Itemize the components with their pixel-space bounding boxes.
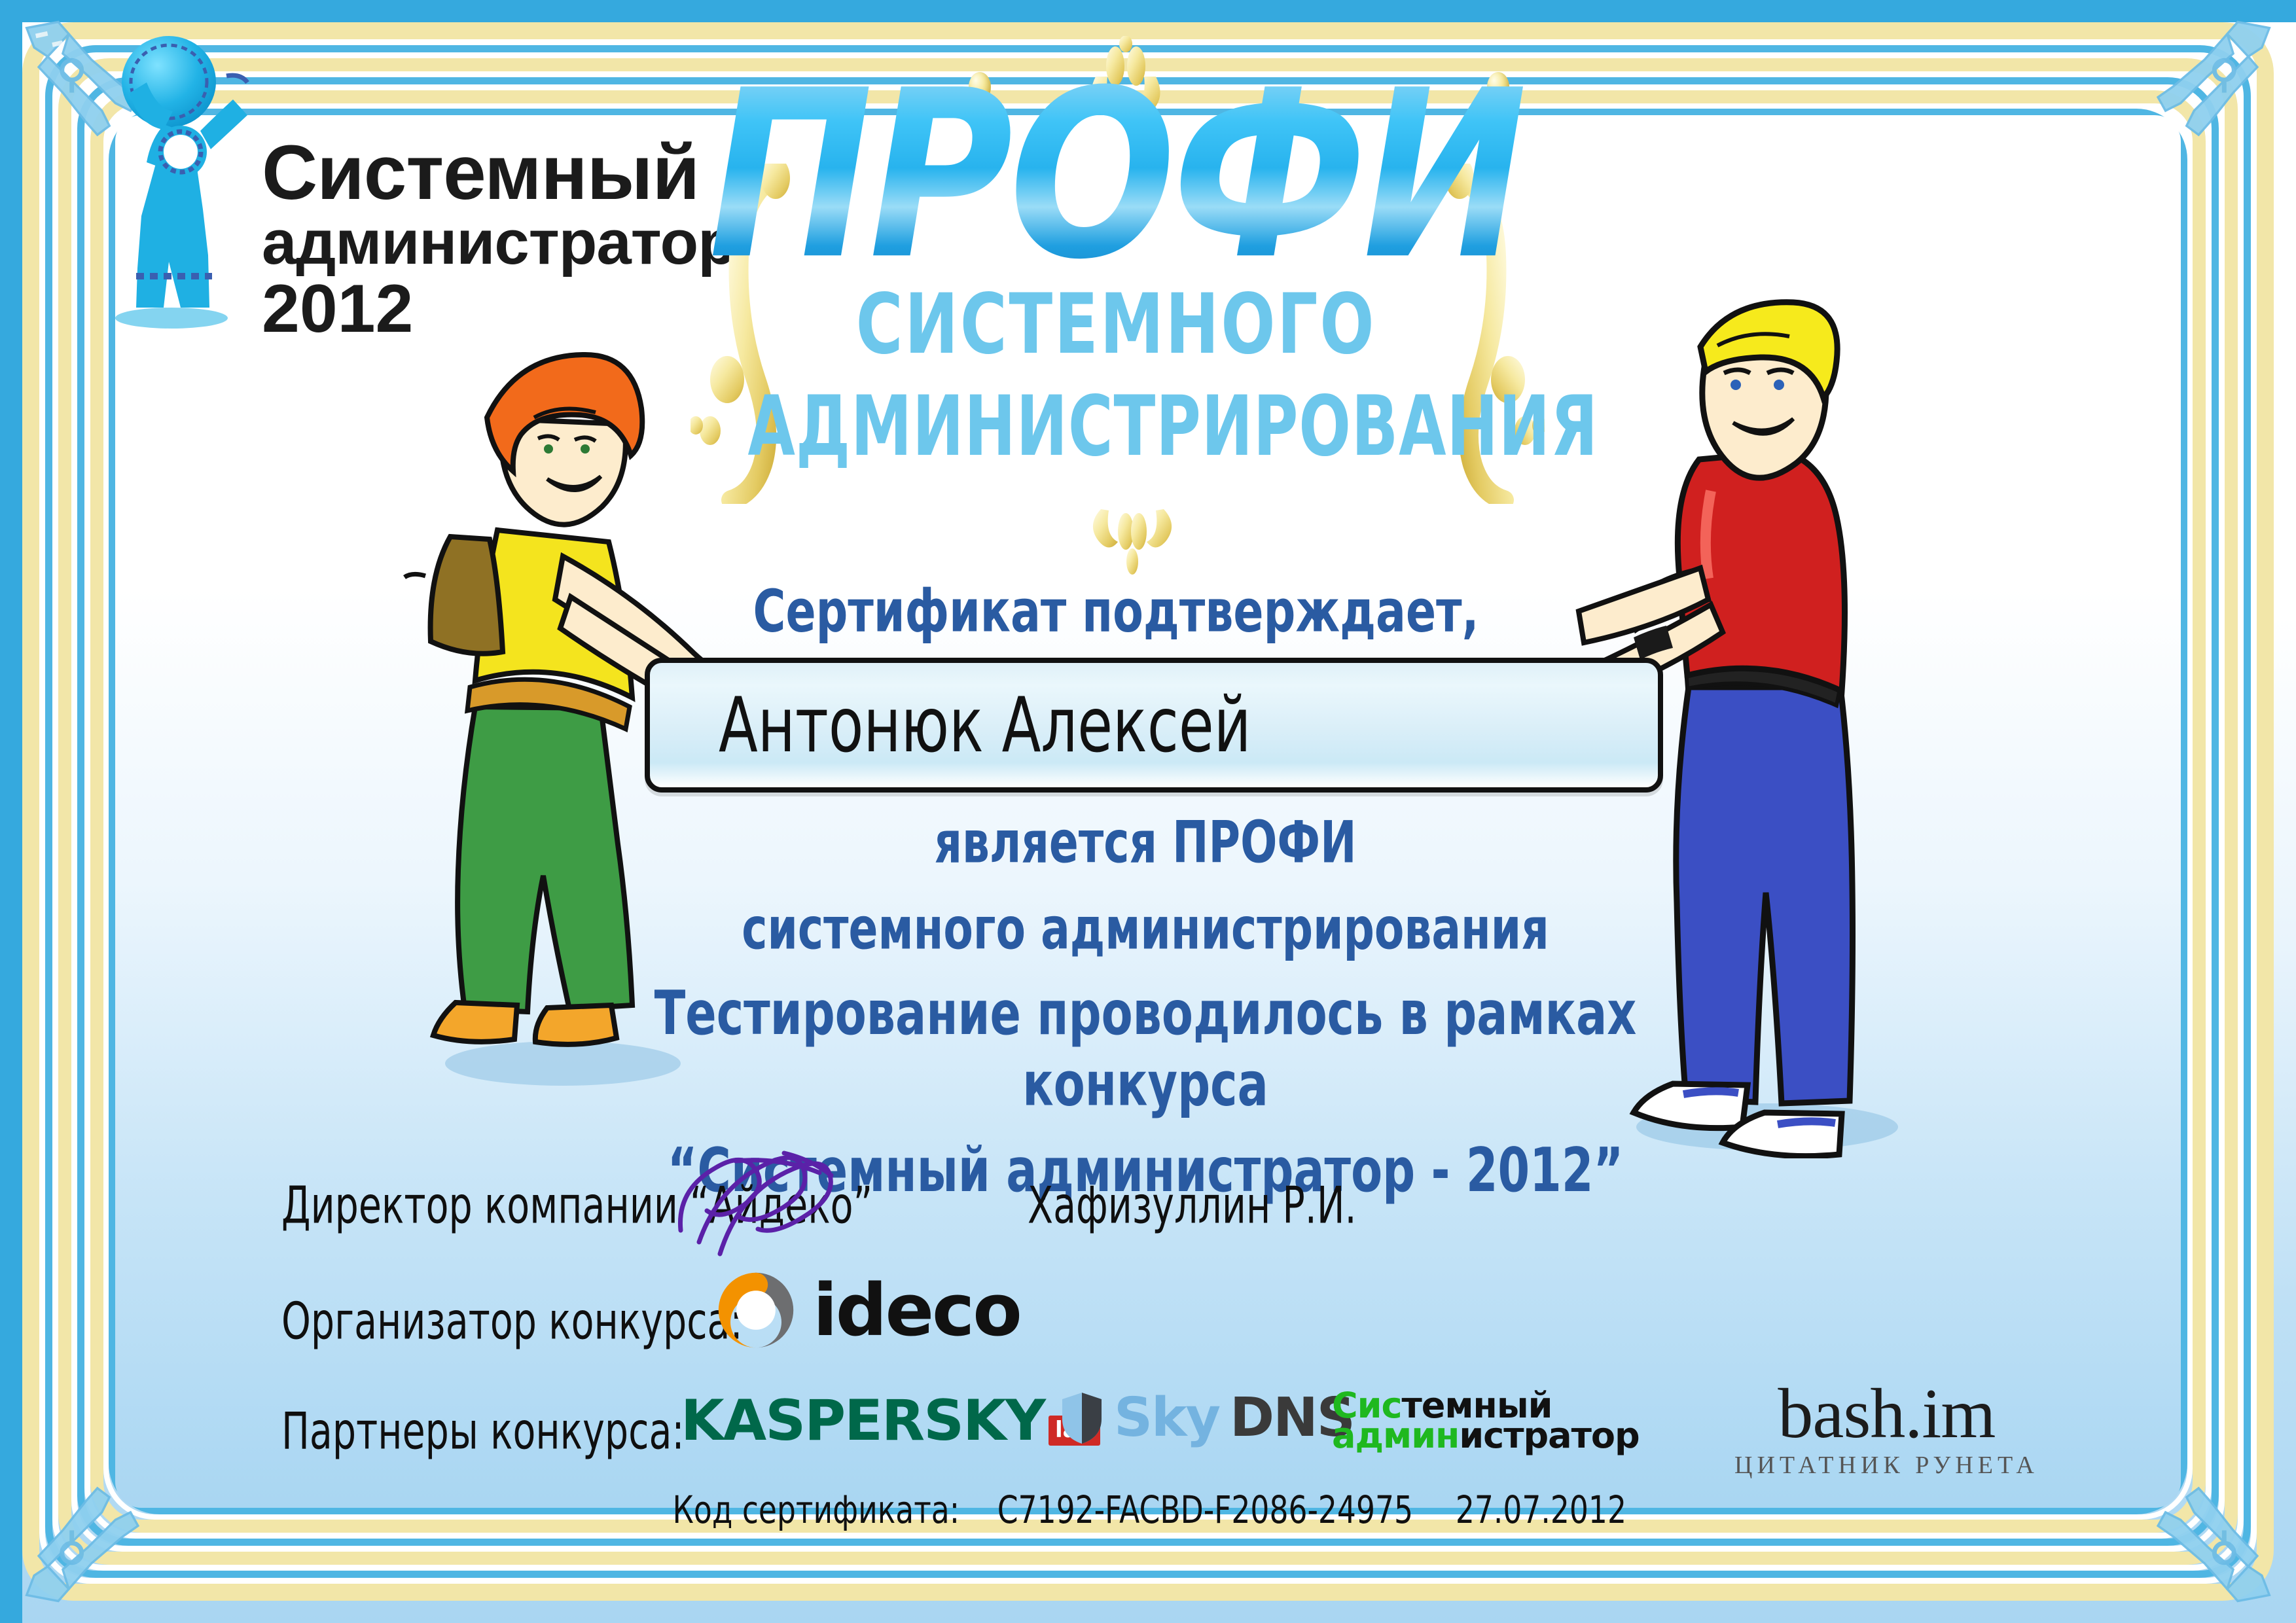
sysadmin-green-2: админ [1332, 1415, 1459, 1456]
pliers-ornament-icon [13, 1458, 164, 1609]
certificate-heading: ПРОФИ СИСТЕМНОГО АДМИНИСТРИРОВАНИЯ [707, 79, 1525, 466]
certificate-code-line: Код сертификата: C7192-FACBD-F2086-24975… [0, 1492, 2296, 1529]
skydns-shield-icon [1060, 1391, 1103, 1445]
heading-title: ПРОФИ [707, 79, 1525, 273]
bashim-logo-icon: bash.im ЦИТАТНИК РУНЕТА [1734, 1379, 2039, 1480]
ideco-ring-icon [713, 1268, 798, 1353]
body-line-2: системного администрирования [634, 895, 1657, 962]
sysadmin-logo-icon: Системный администратор [1332, 1391, 1640, 1452]
code-value: C7192-FACBD-F2086-24975 [997, 1488, 1413, 1532]
logo-line-3: 2012 [262, 275, 720, 343]
ideco-logo: ideco [713, 1268, 1020, 1353]
certificate-page: Системный администратор 2012 [0, 0, 2296, 1623]
organizer-row: Организатор конкурса: ideco [281, 1279, 1721, 1378]
skydns-sky-text: Sky [1114, 1387, 1219, 1449]
heading-subtitle-line-1: СИСТЕМНОГО [732, 276, 1501, 373]
organizer-label: Организатор конкурса: [281, 1291, 743, 1351]
certificate-body-text: является ПРОФИ системного администрирова… [589, 795, 1702, 1199]
heading-subtitle-line-2: АДМИНИСТРИРОВАНИЯ [748, 378, 1484, 475]
handwritten-signature-icon [668, 1144, 857, 1262]
partners-row: Партнеры конкурса: KASPERSKY lab Sky DNS… [281, 1391, 2114, 1489]
sysadmin-black-2: истратор [1459, 1415, 1639, 1456]
recipient-nameplate: Антонюк Алексей [645, 658, 1663, 793]
pliers-ornament-icon [2132, 1458, 2283, 1609]
bashim-tagline: ЦИТАТНИК РУНЕТА [1734, 1451, 2039, 1480]
pliers-ornament-icon [2132, 14, 2283, 165]
certificate-date: 27.07.2012 [1456, 1488, 1626, 1532]
partners-label: Партнеры конкурса: [281, 1401, 685, 1461]
ideco-wordmark: ideco [813, 1268, 1020, 1352]
skydns-logo: Sky DNS [1060, 1387, 1354, 1449]
kaspersky-logo-icon: KASPERSKY lab [681, 1388, 1100, 1454]
signer-name: Хафизуллин Р.И. [1028, 1175, 1357, 1235]
recipient-name: Антонюк Алексей [719, 681, 1251, 770]
signature-row: Директор компании “Айдеко” Хафизуллин Р.… [281, 1158, 1721, 1257]
bashim-wordmark: bash.im [1734, 1379, 2039, 1450]
code-label: Код сертификата: [673, 1488, 960, 1532]
body-line-3: Тестирование проводилось в рамках конкур… [634, 977, 1657, 1119]
sysadmin-brand-logo: Системный администратор 2012 [98, 26, 713, 393]
kaspersky-wordmark: KASPERSKY [681, 1388, 1045, 1454]
logo-line-1: Системный [262, 137, 720, 209]
logo-line-2: администратор [262, 212, 720, 274]
body-line-1: является ПРОФИ [634, 809, 1657, 876]
